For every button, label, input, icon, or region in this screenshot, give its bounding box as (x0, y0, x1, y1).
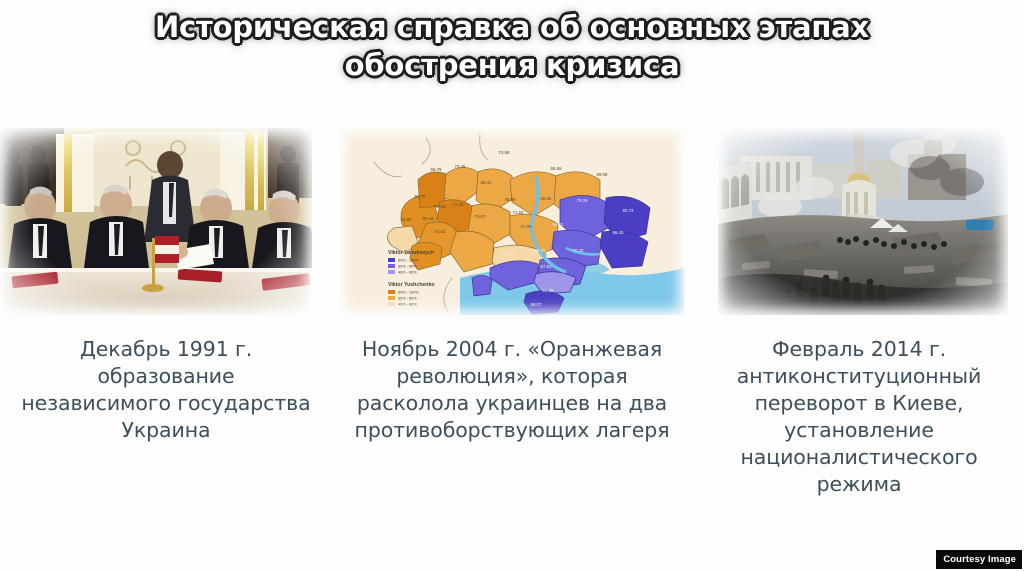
svg-text:70.33: 70.33 (573, 248, 585, 253)
svg-text:47.08: 47.08 (521, 224, 533, 229)
svg-text:60.96: 60.96 (541, 196, 553, 201)
courtesy-image-watermark: Courtesy Image (936, 550, 1022, 569)
svg-text:40% - 60%: 40% - 60% (398, 303, 417, 307)
title-line-2: обострения кризиса (0, 46, 1024, 84)
caption-2004: Ноябрь 2004 г. «Оранжевая революция», ко… (352, 336, 672, 444)
ukraine-2004-election-results-map: 74.69 79.45 65.65 69.09 66.79 60.41 91.7… (340, 128, 684, 315)
page-title: Историческая справка об основных этапах … (0, 8, 1024, 84)
svg-text:57.53: 57.53 (541, 264, 553, 269)
svg-text:75.67: 75.67 (475, 214, 487, 219)
svg-text:Viktor Yanukovych: Viktor Yanukovych (388, 250, 434, 256)
image-row: 74.69 79.45 65.65 69.09 66.79 60.41 91.7… (0, 128, 1024, 315)
svg-text:66.79: 66.79 (431, 167, 443, 172)
svg-text:86.20: 86.20 (613, 230, 625, 235)
svg-text:68.07: 68.07 (531, 302, 543, 307)
svg-text:60% - 80%: 60% - 80% (398, 297, 417, 301)
svg-text:65.65: 65.65 (551, 166, 563, 171)
svg-text:61.39: 61.39 (543, 288, 555, 293)
svg-text:60.41: 60.41 (481, 180, 493, 185)
svg-text:40% - 60%: 40% - 60% (398, 271, 417, 275)
svg-text:60% - 80%: 60% - 80% (398, 265, 417, 269)
svg-text:74.52: 74.52 (435, 229, 447, 234)
slide-root: Историческая справка об основных этапах … (0, 0, 1024, 571)
svg-text:71.45: 71.45 (453, 202, 465, 207)
svg-text:Viktor Yushchenko: Viktor Yushchenko (388, 282, 435, 288)
svg-text:55.00: 55.00 (401, 217, 413, 222)
svg-text:67.74: 67.74 (503, 252, 515, 257)
title-line-1: Историческая справка об основных этапах (0, 8, 1024, 46)
svg-text:71.62: 71.62 (513, 210, 525, 215)
maidan-photo-illustration (718, 128, 1008, 315)
svg-text:69.15: 69.15 (535, 248, 547, 253)
caption-1991: Декабрь 1991 г. образование независимого… (20, 336, 312, 444)
svg-text:76.98: 76.98 (505, 197, 517, 202)
svg-text:79.25: 79.25 (577, 198, 589, 203)
svg-text:89.53: 89.53 (435, 204, 447, 209)
svg-text:91.79: 91.79 (415, 194, 427, 199)
svg-text:69.09: 69.09 (597, 172, 609, 177)
svg-text:80% - 100%: 80% - 100% (398, 259, 419, 263)
signing-photo-illustration (0, 128, 312, 315)
election-map-illustration: 74.69 79.45 65.65 69.09 66.79 60.41 91.7… (340, 128, 684, 315)
svg-text:79.45: 79.45 (455, 164, 467, 169)
svg-text:64.81: 64.81 (553, 222, 565, 227)
belovezh-accords-signing-photo (0, 128, 312, 315)
svg-text:80.44: 80.44 (423, 216, 435, 221)
svg-text:82.73: 82.73 (623, 208, 635, 213)
svg-text:74.69: 74.69 (499, 150, 511, 155)
svg-text:80% - 100%: 80% - 100% (398, 291, 419, 295)
maidan-square-kyiv-photo (718, 128, 1008, 315)
caption-2014: Февраль 2014 г. антиконституционный пере… (700, 336, 1018, 498)
